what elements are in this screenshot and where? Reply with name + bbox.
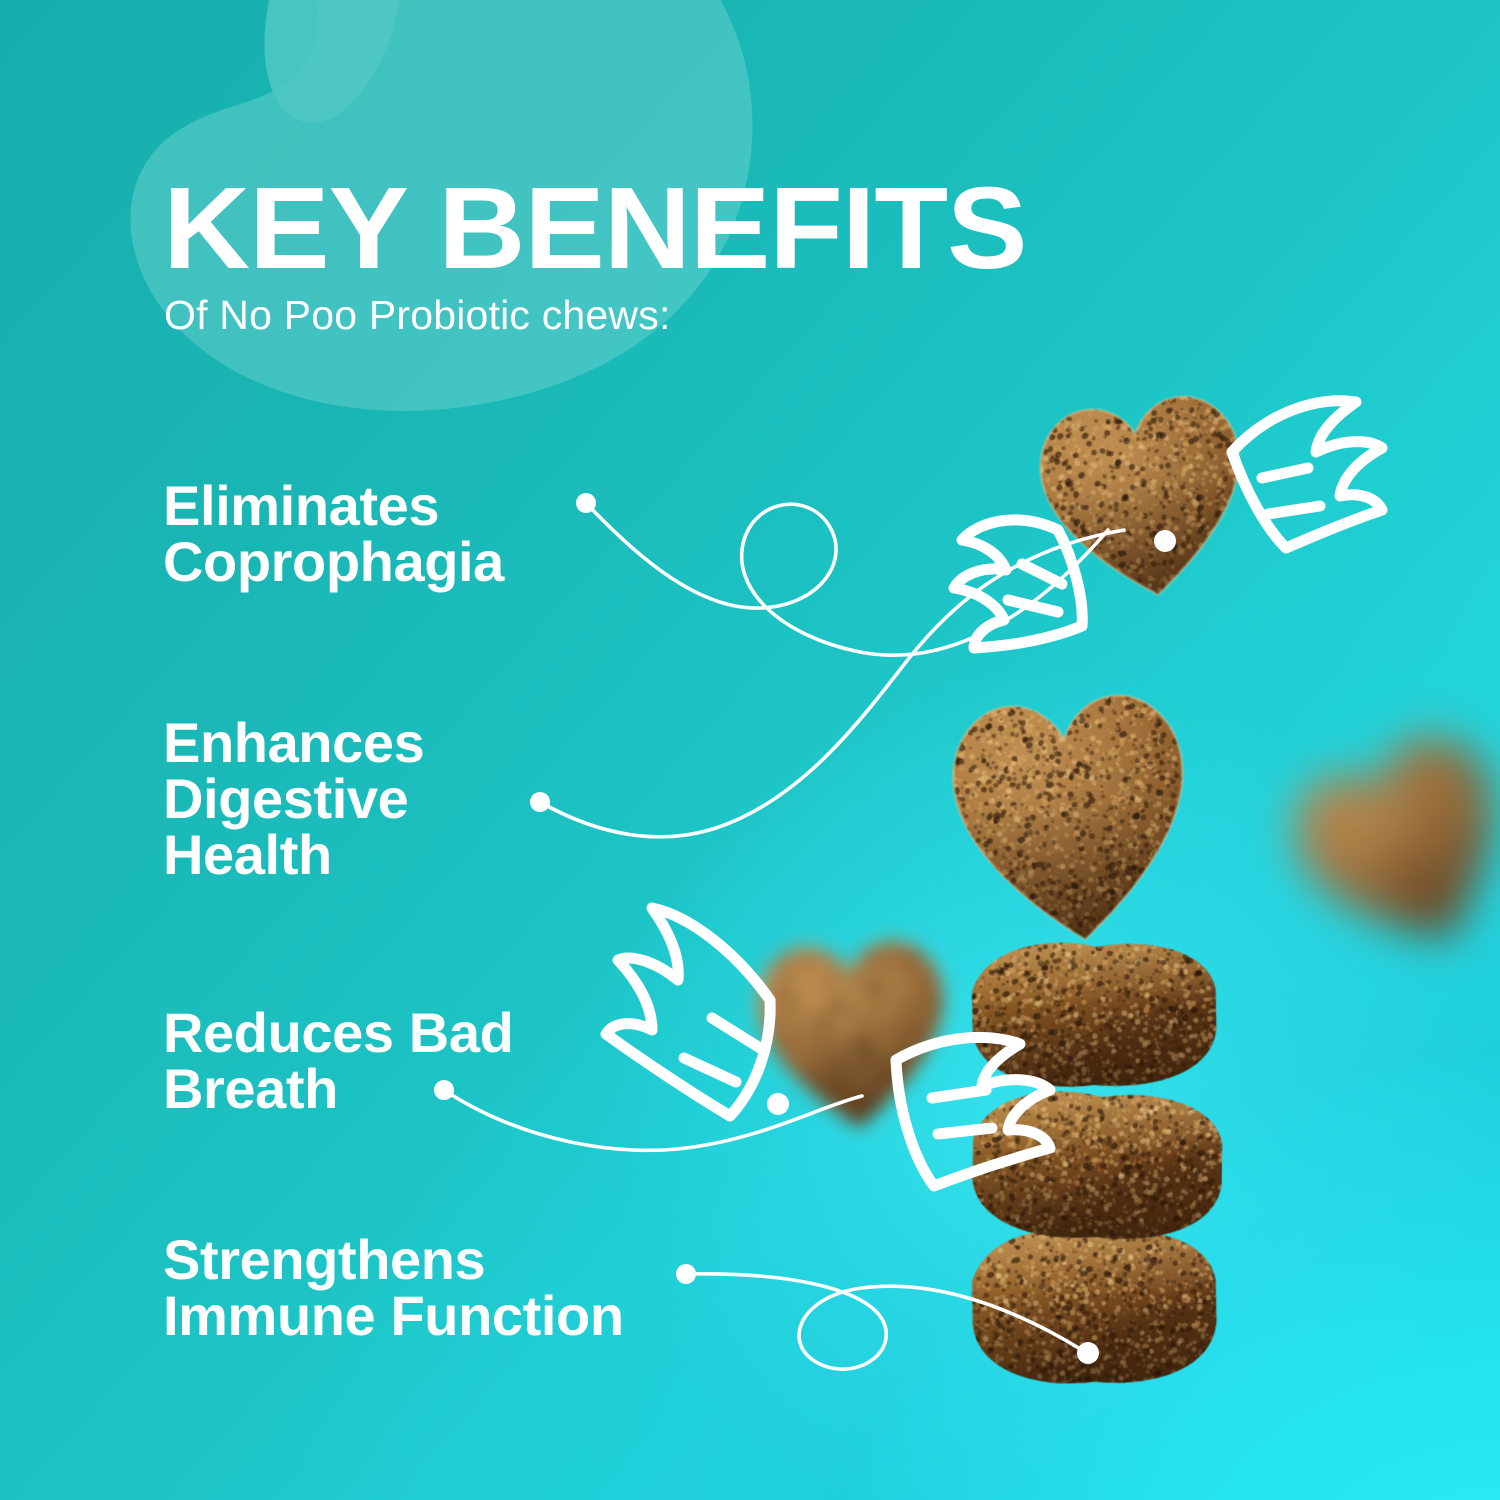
chew-stack-middle [961, 936, 1226, 1091]
benefit-item-1: Eliminates Coprophagia [163, 478, 504, 590]
benefit-item-2: Enhances Digestive Health [163, 715, 424, 883]
benefit-item-3: Reduces Bad Breath [163, 1005, 513, 1117]
benefit-item-4: Strengthens Immune Function [163, 1232, 624, 1344]
key-benefits-poster: KEY BENEFITS Of No Poo Probiotic chews: … [0, 0, 1500, 1500]
chew-winged-floating [738, 921, 968, 1142]
chew-winged-top [1014, 371, 1274, 617]
chew-stack-lower [961, 1086, 1232, 1243]
chew-stack-bottom [961, 1223, 1226, 1388]
page-title: KEY BENEFITS [163, 175, 1026, 282]
chew-stack-upper [925, 667, 1220, 962]
chew-blurred-right [1253, 697, 1500, 994]
page-subtitle: Of No Poo Probiotic chews: [164, 293, 671, 338]
